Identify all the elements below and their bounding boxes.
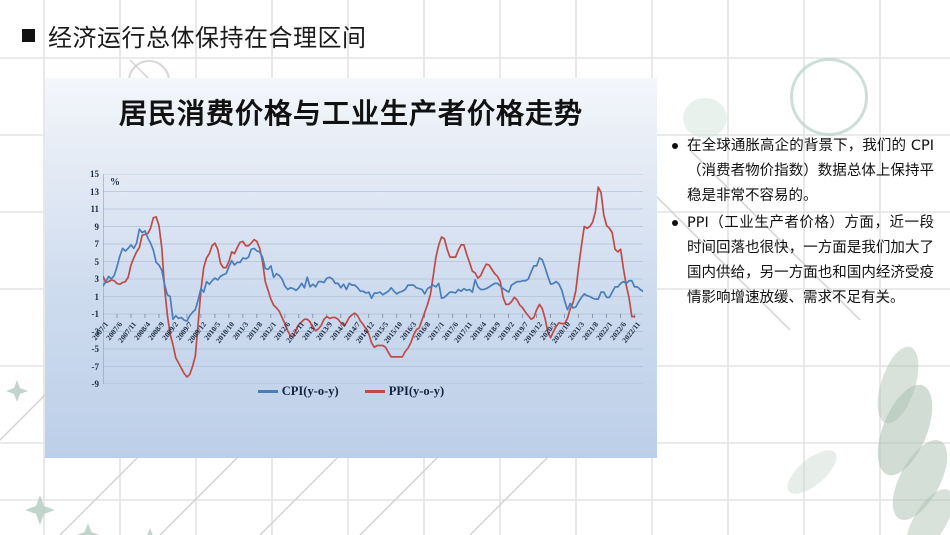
chart-x-axis: 2007/12007/62007/112008/42008/92009/2200… (103, 320, 643, 380)
list-item: PPI（工业生产者价格）方面，近一段时间回落也很快，一方面是我们加大了国内供给，… (672, 211, 934, 311)
list-item: 在全球通胀高企的背景下，我们的 CPI（消费者物价指数）数据总体上保持平稳是非常… (672, 134, 934, 209)
y-axis-tick-label: 9 (95, 222, 100, 232)
y-axis-tick-label: 1 (95, 292, 100, 302)
y-axis-tick-label: 13 (90, 187, 99, 197)
note-text: 在全球通胀高企的背景下，我们的 CPI（消费者物价指数）数据总体上保持平稳是非常… (687, 134, 934, 209)
y-axis-tick-label: -7 (92, 362, 100, 372)
note-text: PPI（工业生产者价格）方面，近一段时间回落也很快，一方面是我们加大了国内供给，… (687, 211, 934, 311)
legend-label-ppi: PPI(y-o-y) (389, 384, 445, 399)
y-axis-tick-label: -9 (92, 379, 100, 389)
page-title-text: 经济运行总体保持在合理区间 (48, 18, 367, 53)
y-axis-tick-label: 5 (95, 257, 100, 267)
square-bullet-icon (22, 29, 35, 42)
y-axis-tick-label: 11 (90, 204, 99, 214)
circle-outline-icon (790, 58, 868, 136)
y-axis-tick-label: -1 (92, 309, 100, 319)
chart-legend: CPI(y-o-y) PPI(y-o-y) (45, 384, 657, 399)
y-axis-tick-label: -5 (92, 344, 100, 354)
notes-list: 在全球通胀高企的背景下，我们的 CPI（消费者物价指数）数据总体上保持平稳是非常… (672, 134, 934, 313)
y-axis-tick-label: 3 (95, 274, 100, 284)
chart-title: 居民消费价格与工业生产者价格走势 (45, 92, 657, 132)
legend-swatch-ppi-icon (365, 390, 385, 393)
page-title: 经济运行总体保持在合理区间 (22, 18, 367, 53)
legend-swatch-cpi-icon (258, 390, 278, 393)
legend-item-ppi: PPI(y-o-y) (365, 384, 445, 399)
y-axis-tick-label: 15 (90, 169, 99, 179)
y-axis-tick-label: 7 (95, 239, 100, 249)
chart-panel: 居民消费价格与工业生产者价格走势 % 15131197531-1-3-5-7-9… (45, 78, 657, 458)
legend-label-cpi: CPI(y-o-y) (282, 384, 339, 399)
bullet-dot-icon (672, 220, 678, 226)
bullet-dot-icon (672, 143, 678, 149)
legend-item-cpi: CPI(y-o-y) (258, 384, 339, 399)
chart-y-axis: 15131197531-1-3-5-7-9 (65, 174, 99, 384)
